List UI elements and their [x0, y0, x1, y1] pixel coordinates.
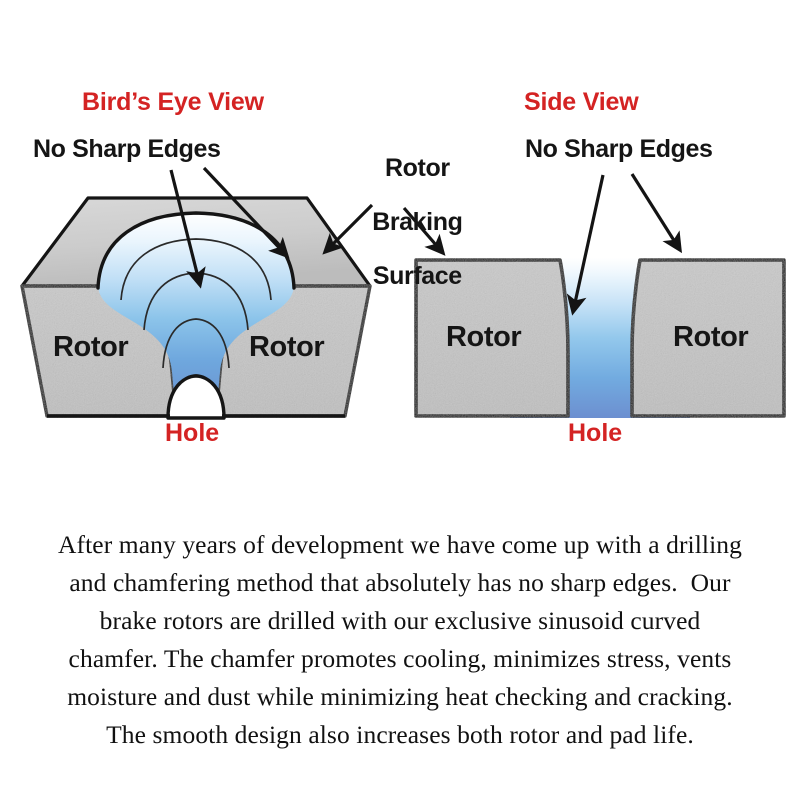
- hole-notch-left: [168, 376, 224, 418]
- left-block-label-right: Rotor: [249, 333, 324, 363]
- left-hole-label: Hole: [165, 421, 219, 447]
- right-hole-label: Hole: [568, 421, 622, 447]
- body-paragraph: After many years of development we have …: [8, 526, 792, 754]
- rotor-braking-surface-line-1: Rotor: [385, 154, 450, 182]
- body-line-3: brake rotors are drilled with our exclus…: [8, 602, 792, 640]
- contour-arc-4: [176, 375, 216, 410]
- left-diagram-group: [22, 168, 372, 418]
- arrow-side-no-sharp-edges-left: [573, 175, 603, 312]
- body-line-6: The smooth design also increases both ro…: [8, 716, 792, 754]
- body-line-1: After many years of development we have …: [8, 526, 792, 564]
- contour-arc-2: [144, 273, 248, 330]
- rotor-braking-surface-top: [22, 198, 370, 286]
- right-diagram-title: Side View: [524, 90, 638, 116]
- rotor-braking-surface-line-2: Braking: [372, 208, 462, 236]
- contour-arc-3: [163, 319, 229, 368]
- rotor-braking-surface-label: Rotor Braking Surface: [346, 128, 462, 317]
- left-block-label-left: Rotor: [53, 333, 128, 363]
- left-diagram-title: Bird’s Eye View: [82, 90, 264, 116]
- rotor-braking-surface-line-3: Surface: [373, 262, 462, 290]
- contour-arc-1: [121, 239, 271, 300]
- chamfer-outer-arc: [98, 213, 294, 288]
- body-line-4: chamfer. The chamfer promotes cooling, m…: [8, 640, 792, 678]
- side-chamfer-channel: [510, 258, 690, 418]
- right-no-sharp-edges-label: No Sharp Edges: [525, 137, 713, 163]
- body-line-2: and chamfering method that absolutely ha…: [8, 564, 792, 602]
- chamfer-funnel-blue: [98, 213, 294, 416]
- side-block-label-left: Rotor: [446, 323, 521, 353]
- page-root: Bird’s Eye View No Sharp Edges Rotor Bra…: [0, 0, 800, 800]
- side-block-label-right: Rotor: [673, 323, 748, 353]
- arrow-no-sharp-edges-right: [204, 168, 287, 256]
- left-no-sharp-edges-label: No Sharp Edges: [33, 137, 221, 163]
- body-line-5: moisture and dust while minimizing heat …: [8, 678, 792, 716]
- arrow-no-sharp-edges-left: [171, 170, 200, 285]
- arrow-side-no-sharp-edges-right: [632, 174, 680, 250]
